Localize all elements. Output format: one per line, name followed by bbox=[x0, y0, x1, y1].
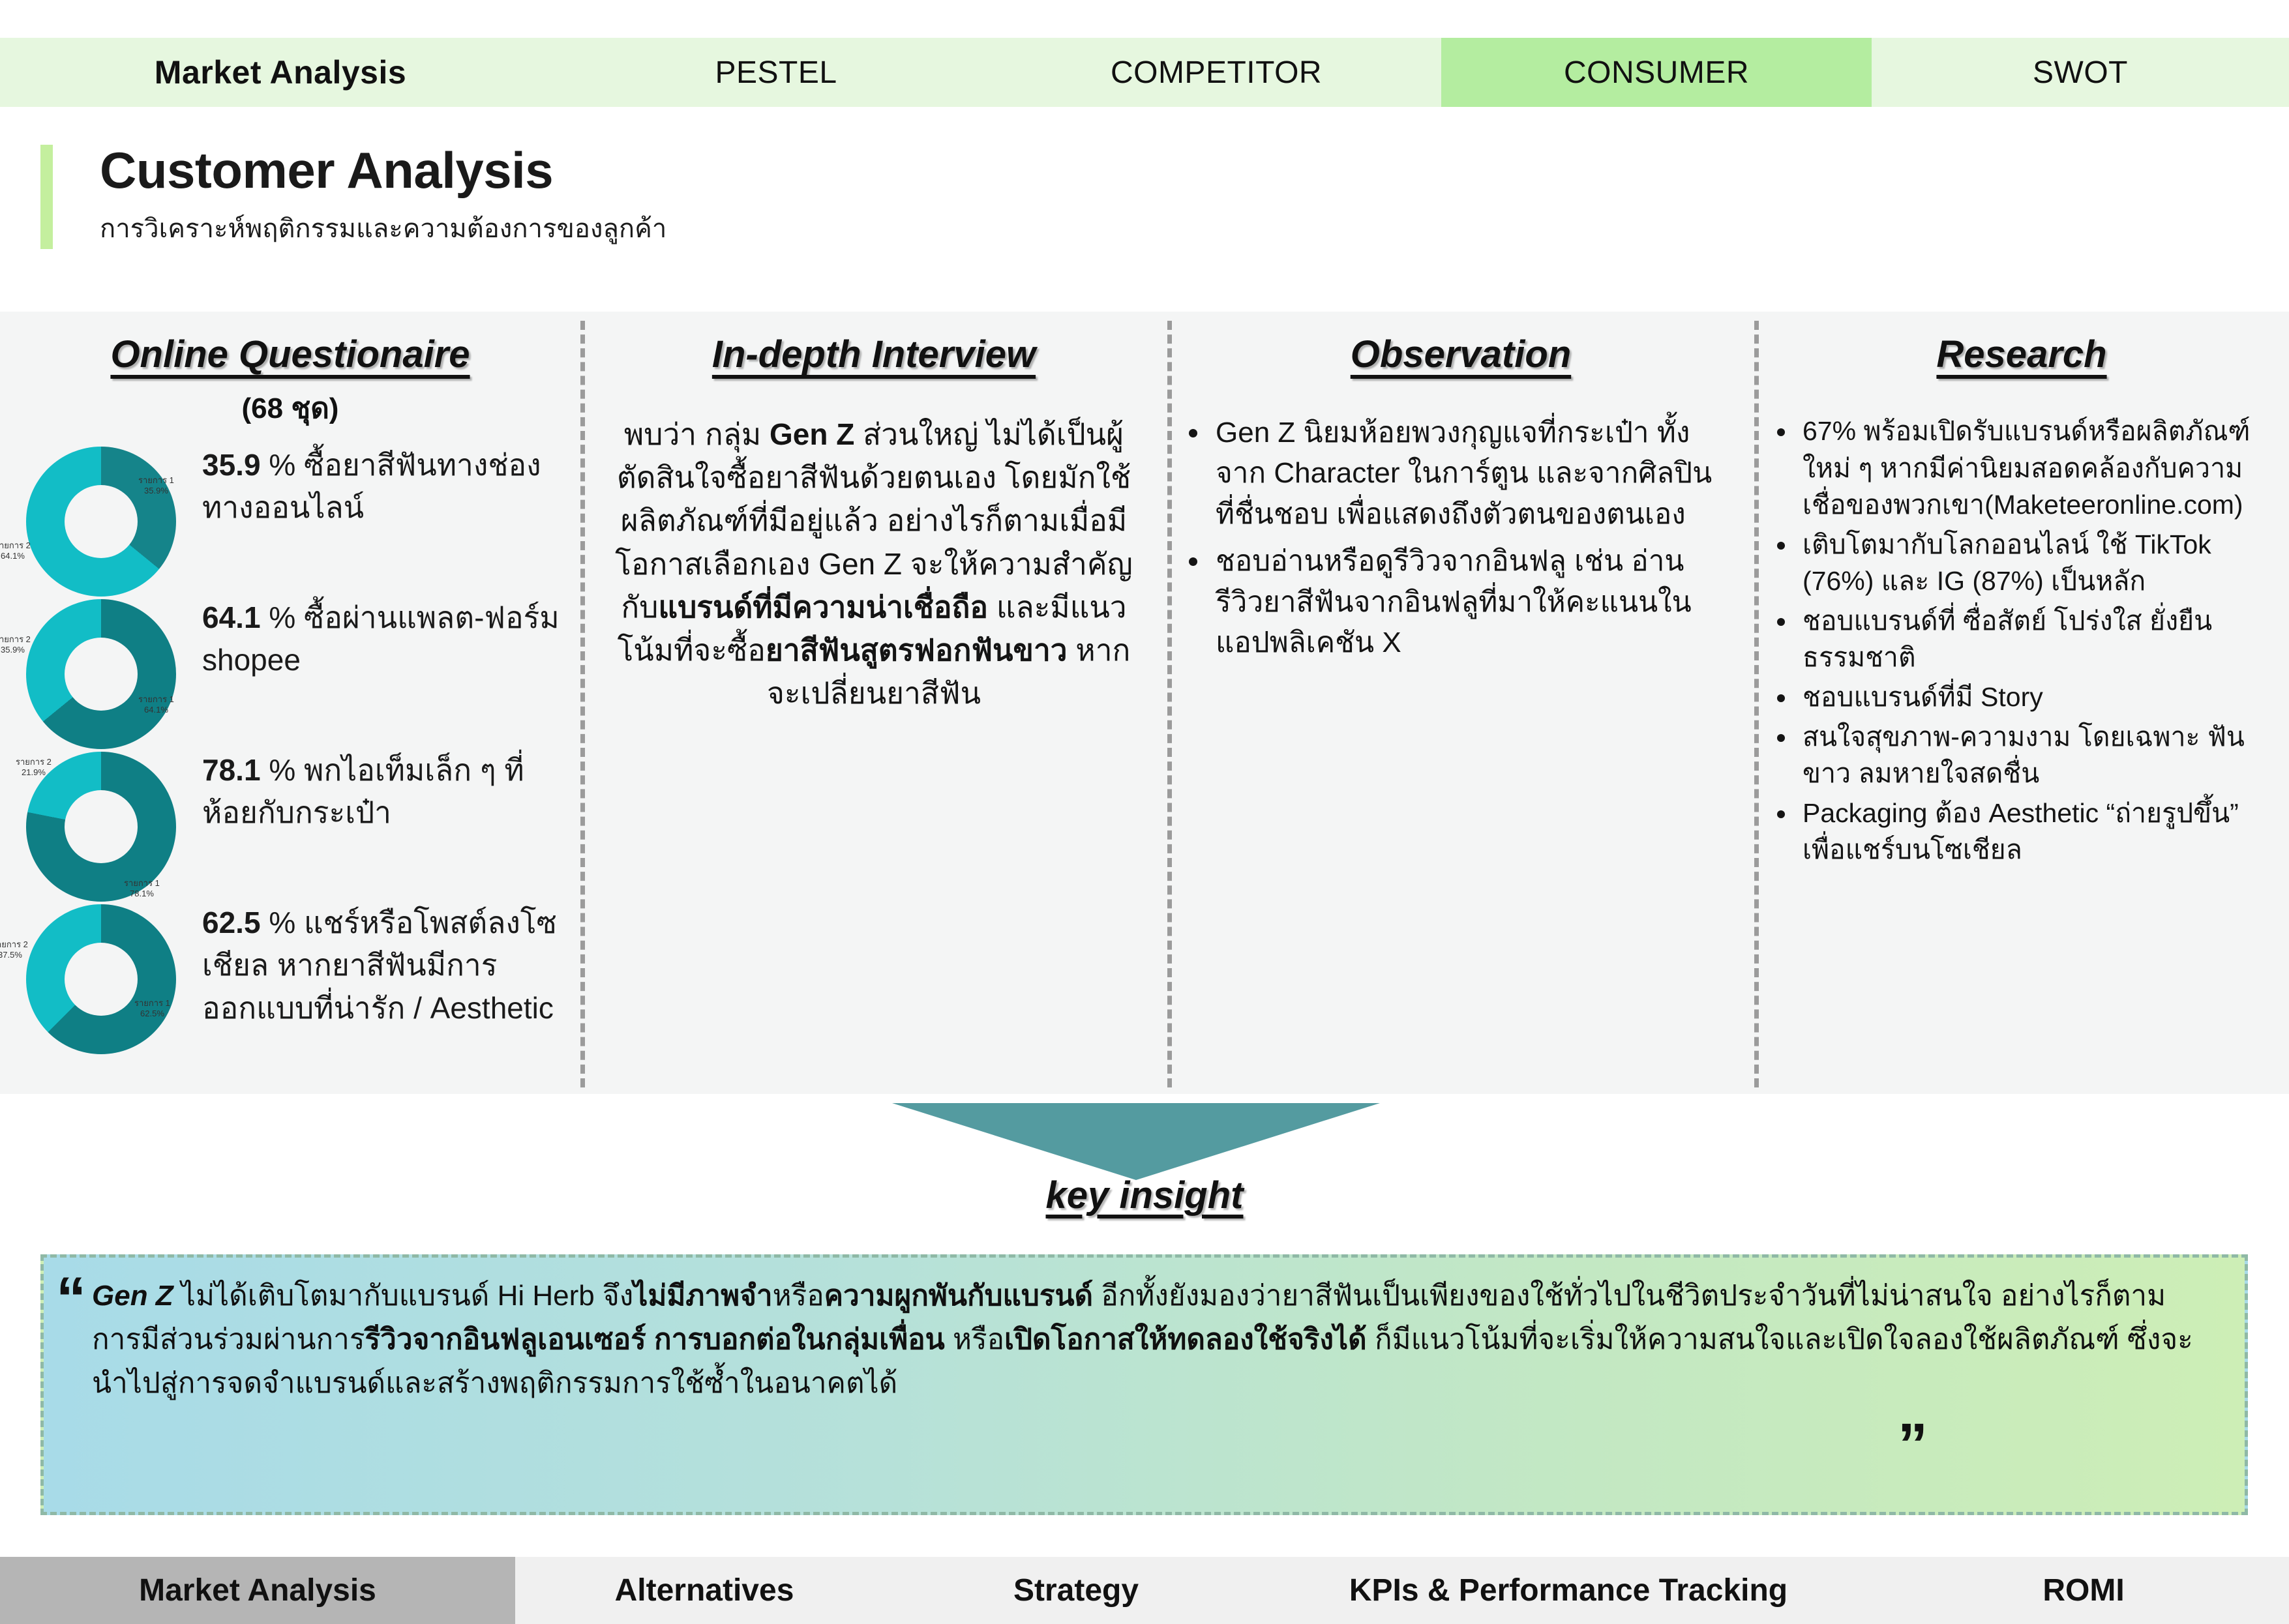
top-navigation: Market Analysis PESTEL COMPETITOR CONSUM… bbox=[0, 38, 2289, 107]
bottom-navigation: Market Analysis Alternatives Strategy KP… bbox=[0, 1557, 2289, 1624]
column-heading-observation: Observation bbox=[1167, 332, 1754, 376]
column-observation: Observation Gen Z นิยมห้อยพวงกุญแจที่กระ… bbox=[1167, 312, 1754, 1094]
donut-3-value: 78.1 bbox=[202, 753, 261, 787]
donut-chart-4 bbox=[26, 904, 176, 1054]
page-subtitle: การวิเคราะห์พฤติกรรมและความต้องการของลูก… bbox=[100, 207, 666, 249]
interview-paragraph: พบว่า กลุ่ม Gen Z ส่วนใหญ่ ไม่ได้เป็นผู้… bbox=[610, 413, 1137, 715]
tab-swot[interactable]: SWOT bbox=[1872, 38, 2289, 107]
list-item: เติบโตมากับโลกออนไลน์ ใช้ TikTok (76%) แ… bbox=[1797, 526, 2262, 600]
donut-row: รายการ 135.9% รายการ 264.1% 35.9 % ซื้อย… bbox=[0, 444, 580, 597]
donut-1-value: 35.9 bbox=[202, 448, 261, 482]
donut-chart-1 bbox=[26, 447, 176, 597]
bottom-tab-strategy[interactable]: Strategy bbox=[893, 1557, 1259, 1624]
donut-2-caption: 64.1 % ซื้อผ่านแพลต-ฟอร์ม shopee bbox=[202, 597, 580, 682]
tab-consumer[interactable]: CONSUMER bbox=[1441, 38, 1872, 107]
donut-chart-4-container: รายการ 237.5% รายการ 162.5% bbox=[0, 902, 202, 1054]
list-item: Gen Z นิยมห้อยพวงกุญแจที่กระเป๋า ทั้งจาก… bbox=[1210, 413, 1727, 535]
list-item: ชอบแบรนด์ที่มี Story bbox=[1797, 679, 2262, 716]
list-item: ชอบแบรนด์ที่ ซื่อสัตย์ โปร่งใส ยั่งยืน ธ… bbox=[1797, 602, 2262, 676]
emphasis-text: ยาสีฟันสูตรฟอกฟันขาว bbox=[766, 633, 1068, 667]
body-text: หรือ bbox=[773, 1280, 824, 1312]
body-text: ไม่ได้เติบโตมากับแบรนด์ Hi Herb จึง bbox=[173, 1280, 634, 1312]
donut-row: รายการ 221.9% รายการ 178.1% 78.1 % พกไอเ… bbox=[0, 749, 580, 902]
list-item: 67% พร้อมเปิดรับแบรนด์หรือผลิตภัณฑ์ใหม่ … bbox=[1797, 413, 2262, 524]
emphasis-text: Gen Z bbox=[92, 1280, 173, 1312]
page-header: Customer Analysis การวิเคราะห์พฤติกรรมแล… bbox=[40, 145, 666, 249]
column-heading-interview: In-depth Interview bbox=[580, 332, 1167, 376]
bottom-tab-romi[interactable]: ROMI bbox=[1878, 1557, 2289, 1624]
column-in-depth-interview: In-depth Interview พบว่า กลุ่ม Gen Z ส่ว… bbox=[580, 312, 1167, 1094]
bottom-tab-kpis[interactable]: KPIs & Performance Tracking bbox=[1259, 1557, 1878, 1624]
page-title: Customer Analysis bbox=[100, 145, 666, 196]
donut-row: รายการ 235.9% รายการ 164.1% 64.1 % ซื้อผ… bbox=[0, 597, 580, 749]
donut-3-unit: % bbox=[269, 753, 295, 787]
donut-4-label-b: รายการ 237.5% bbox=[0, 939, 28, 961]
list-item: Packaging ต้อง Aesthetic “ถ่ายรูปขึ้น” เ… bbox=[1797, 795, 2262, 868]
column-online-questionaire: Online Questionaire (68 ชุด) รายการ 135.… bbox=[0, 312, 580, 1094]
donut-1-label-a: รายการ 135.9% bbox=[138, 475, 174, 497]
column-subheading-sample-size: (68 ชุด) bbox=[0, 385, 580, 431]
bottom-tab-market-analysis[interactable]: Market Analysis bbox=[0, 1557, 515, 1624]
donut-4-caption: 62.5 % แชร์หรือโพสต์ลงโซเชียล หากยาสีฟัน… bbox=[202, 902, 580, 1029]
donut-1-caption: 35.9 % ซื้อยาสีฟันทางช่องทางออนไลน์ bbox=[202, 444, 580, 529]
quote-open-icon: “ bbox=[56, 1269, 86, 1329]
column-heading-research: Research bbox=[1754, 332, 2289, 376]
quote-close-icon: ” bbox=[1898, 1415, 1928, 1475]
donut-2-unit: % bbox=[269, 600, 295, 634]
donut-1-unit: % bbox=[269, 448, 295, 482]
emphasis-text: เปิดโอกาสให้ทดลองใช้จริงได้ bbox=[1004, 1323, 1367, 1355]
research-bullet-list: 67% พร้อมเปิดรับแบรนด์หรือผลิตภัณฑ์ใหม่ … bbox=[1797, 413, 2262, 868]
donut-4-unit: % bbox=[269, 906, 295, 939]
down-arrow-icon bbox=[892, 1103, 1380, 1180]
tab-competitor[interactable]: COMPETITOR bbox=[991, 38, 1441, 107]
body-text: หรือ bbox=[945, 1323, 1004, 1355]
key-insight-label: key insight bbox=[1008, 1174, 1281, 1217]
title-accent-bar bbox=[40, 145, 53, 249]
donut-2-label-a: รายการ 164.1% bbox=[138, 694, 174, 716]
key-insight-text: Gen Z ไม่ได้เติบโตมากับแบรนด์ Hi Herb จึ… bbox=[92, 1275, 2209, 1406]
research-panel: Online Questionaire (68 ชุด) รายการ 135.… bbox=[0, 312, 2289, 1094]
body-text: พบว่า กลุ่ม bbox=[624, 417, 770, 451]
column-heading-questionaire: Online Questionaire bbox=[0, 332, 580, 376]
emphasis-text: แบรนด์ที่มีความน่าเชื่อถือ bbox=[658, 590, 988, 624]
donut-1-label-b: รายการ 264.1% bbox=[0, 540, 31, 562]
donut-list: รายการ 135.9% รายการ 264.1% 35.9 % ซื้อย… bbox=[0, 444, 580, 1054]
donut-row: รายการ 237.5% รายการ 162.5% 62.5 % แชร์ห… bbox=[0, 902, 580, 1054]
donut-chart-2-container: รายการ 235.9% รายการ 164.1% bbox=[0, 597, 202, 749]
donut-chart-1-container: รายการ 135.9% รายการ 264.1% bbox=[0, 444, 202, 597]
slide-root: Market Analysis PESTEL COMPETITOR CONSUM… bbox=[0, 0, 2289, 1624]
emphasis-text: ไม่มีภาพจำ bbox=[633, 1280, 772, 1312]
donut-3-caption: 78.1 % พกไอเท็มเล็ก ๆ ที่ห้อยกับกระเป๋า bbox=[202, 749, 580, 834]
observation-bullet-list: Gen Z นิยมห้อยพวงกุญแจที่กระเป๋า ทั้งจาก… bbox=[1210, 413, 1727, 664]
donut-2-value: 64.1 bbox=[202, 600, 261, 634]
list-item: ชอบอ่านหรือดูรีวิวจากอินฟลู เช่น อ่านรีว… bbox=[1210, 541, 1727, 663]
tab-pestel[interactable]: PESTEL bbox=[561, 38, 991, 107]
bottom-tab-alternatives[interactable]: Alternatives bbox=[515, 1557, 893, 1624]
emphasis-text: Gen Z bbox=[770, 417, 854, 451]
emphasis-text: ความผูกพันกับแบรนด์ bbox=[824, 1280, 1094, 1312]
donut-4-label-a: รายการ 162.5% bbox=[134, 998, 170, 1020]
donut-chart-2 bbox=[26, 599, 176, 749]
emphasis-text: รีวิวจากอินฟลูเอนเซอร์ การบอกต่อในกลุ่มเ… bbox=[365, 1323, 945, 1355]
donut-chart-3-container: รายการ 221.9% รายการ 178.1% bbox=[0, 749, 202, 902]
list-item: สนใจสุขภาพ-ความงาม โดยเฉพาะ ฟันขาว ลมหาย… bbox=[1797, 718, 2262, 792]
donut-3-label-b: รายการ 221.9% bbox=[16, 757, 52, 778]
donut-4-value: 62.5 bbox=[202, 906, 261, 939]
donut-3-label-a: รายการ 178.1% bbox=[124, 878, 160, 900]
nav-brand[interactable]: Market Analysis bbox=[0, 38, 561, 107]
donut-2-label-b: รายการ 235.9% bbox=[0, 634, 31, 656]
column-research: Research 67% พร้อมเปิดรับแบรนด์หรือผลิตภ… bbox=[1754, 312, 2289, 1094]
